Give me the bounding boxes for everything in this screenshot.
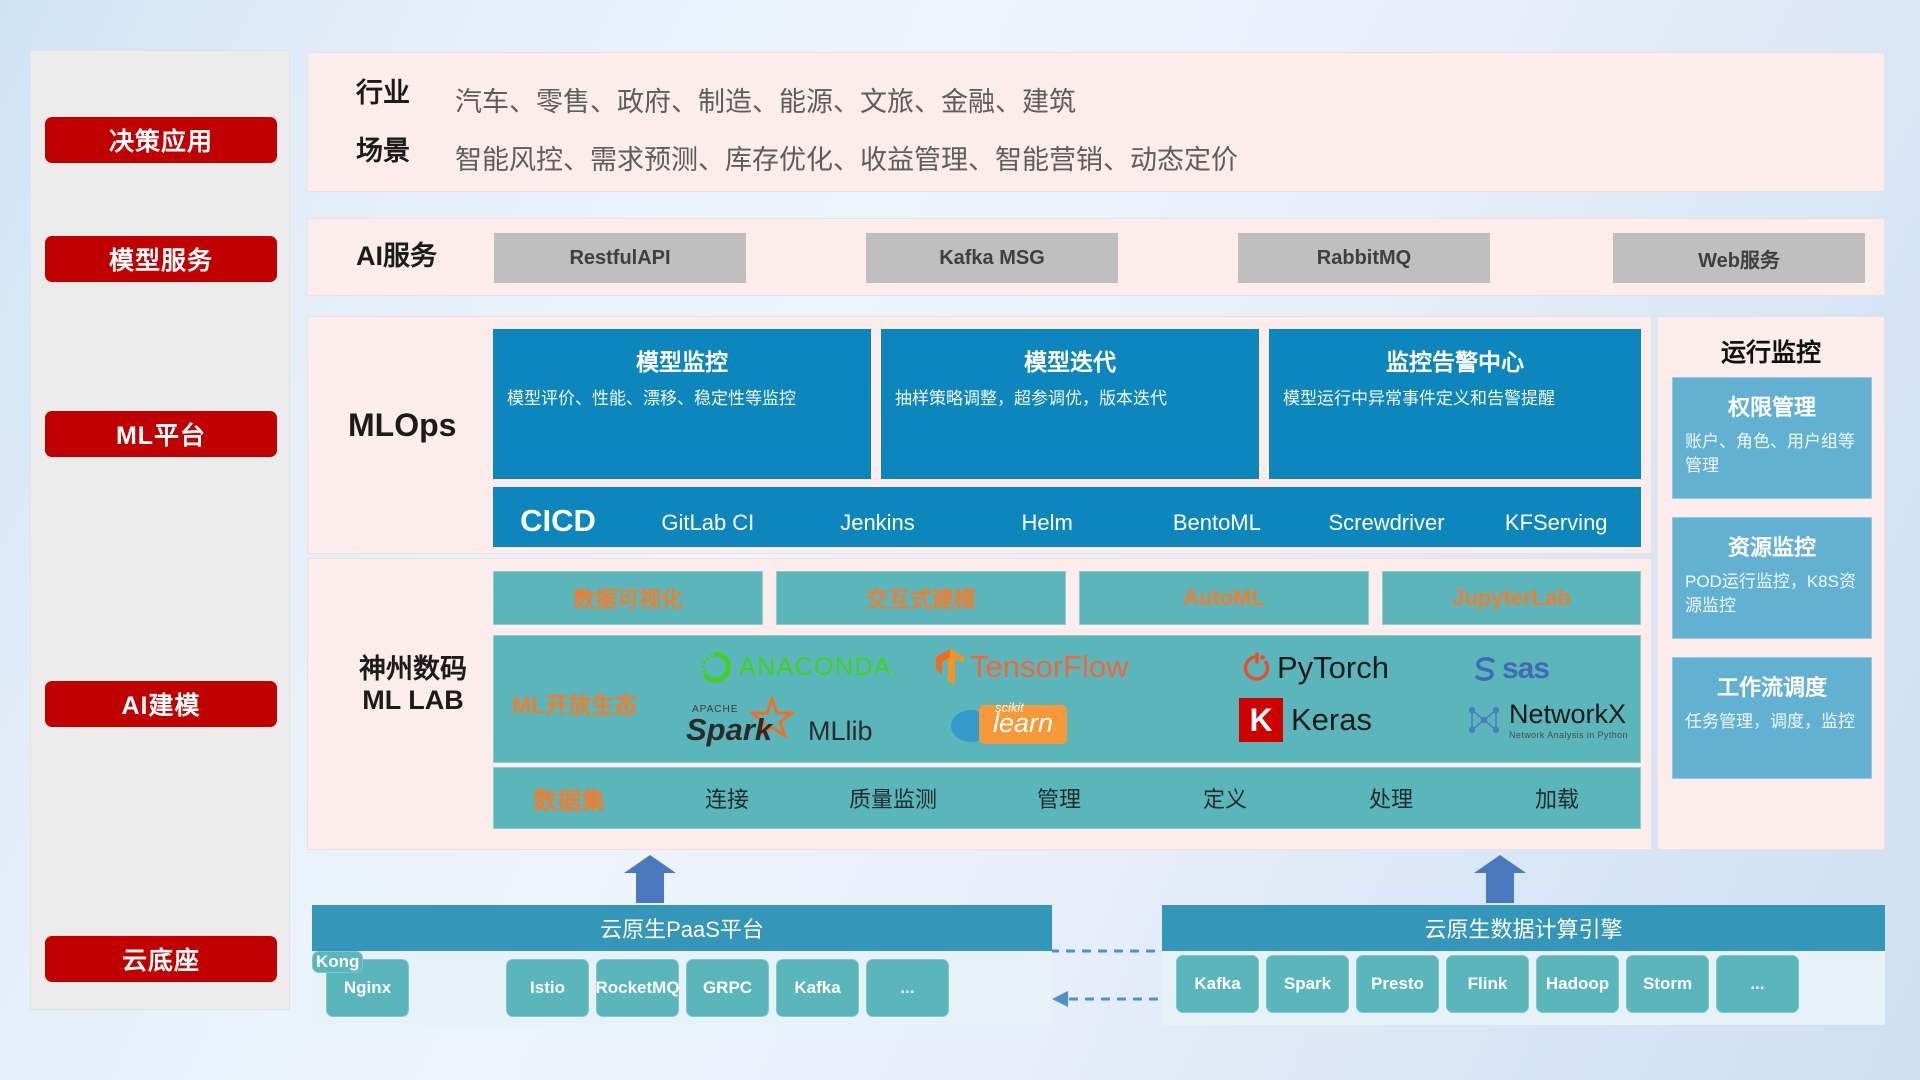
industry-value: 汽车、零售、政府、制造、能源、文旅、金融、建筑 — [455, 80, 1076, 119]
tensorflow-label: TensorFlow — [970, 649, 1129, 685]
paas-chip-rocketmq[interactable]: RocketMQ — [596, 959, 679, 1017]
paas-chip-kong[interactable]: Kong — [312, 951, 363, 973]
engine-chip-storm[interactable]: Storm — [1626, 955, 1709, 1013]
left-rail: 决策应用 模型服务 ML平台 AI建模 云底座 — [30, 50, 290, 1010]
tab-automl[interactable]: AutoML — [1079, 571, 1369, 625]
mllib-label: MLlib — [808, 716, 873, 747]
mlops-card-model-monitoring[interactable]: 模型监控 模型评价、性能、漂移、稳定性等监控 — [493, 329, 871, 479]
engine-chip-more[interactable]: ... — [1716, 955, 1799, 1013]
runtime-monitor-panel: 运行监控 权限管理 账户、角色、用户组等管理 资源监控 POD运行监控，K8S资… — [1657, 316, 1885, 850]
rail-item-cloud-base[interactable]: 云底座 — [45, 936, 277, 982]
ai-service-chip-kafka-msg[interactable]: Kafka MSG — [866, 233, 1118, 283]
cicd-item-kfserving[interactable]: KFServing — [1471, 487, 1641, 537]
anaconda-label: ANACONDA. — [739, 653, 900, 682]
rail-item-model-service[interactable]: 模型服务 — [45, 236, 277, 282]
card-title: 资源监控 — [1673, 530, 1871, 562]
engine-chip-kafka[interactable]: Kafka — [1176, 955, 1259, 1013]
tab-data-visualization[interactable]: 数据可视化 — [493, 571, 763, 625]
dataset-item-connect[interactable]: 连接 — [644, 782, 810, 814]
mlops-panel: MLOps 模型监控 模型评价、性能、漂移、稳定性等监控 模型迭代 抽样策略调整… — [307, 316, 1652, 554]
ml-open-ecosystem-band: ML开放生态 ANACONDA. TensorFlow — [493, 635, 1641, 763]
tensorflow-logo: TensorFlow — [934, 648, 1129, 686]
card-title: 模型迭代 — [881, 343, 1259, 377]
ai-service-chip-web-service[interactable]: Web服务 — [1613, 233, 1865, 283]
spark-mllib-logo: APACHE Spark MLlib — [682, 702, 873, 754]
card-desc: 账户、角色、用户组等管理 — [1685, 430, 1859, 478]
pytorch-icon — [1242, 651, 1272, 685]
rail-item-ai-modeling[interactable]: AI建模 — [45, 681, 277, 727]
dataset-item-load[interactable]: 加载 — [1474, 782, 1640, 814]
tab-jupyterlab[interactable]: JupyterLab — [1382, 571, 1641, 625]
ml-open-ecosystem-label: ML开放生态 — [512, 686, 637, 720]
dataset-item-define[interactable]: 定义 — [1142, 782, 1308, 814]
pytorch-logo: PyTorch — [1242, 650, 1389, 686]
engine-chip-spark[interactable]: Spark — [1266, 955, 1349, 1013]
rail-item-ml-platform[interactable]: ML平台 — [45, 411, 277, 457]
dataset-item-manage[interactable]: 管理 — [976, 782, 1142, 814]
engine-header: 云原生数据计算引擎 — [1162, 905, 1885, 951]
monitor-card-workflow[interactable]: 工作流调度 任务管理，调度，监控 — [1672, 657, 1872, 779]
sas-label: sas — [1502, 652, 1549, 686]
card-desc: POD运行监控，K8S资源监控 — [1685, 570, 1859, 618]
engine-chip-hadoop[interactable]: Hadoop — [1536, 955, 1619, 1013]
paas-header: 云原生PaaS平台 — [312, 905, 1052, 951]
paas-chip-more[interactable]: ... — [866, 959, 949, 1017]
mlops-label: MLOps — [348, 407, 456, 444]
cicd-item-screwdriver[interactable]: Screwdriver — [1302, 487, 1472, 537]
tab-interactive-modeling[interactable]: 交互式建模 — [776, 571, 1066, 625]
networkx-label: NetworkX — [1509, 701, 1628, 728]
ai-service-chip-rabbitmq[interactable]: RabbitMQ — [1238, 233, 1490, 283]
ml-lab-panel: 神州数码 ML LAB 数据可视化 交互式建模 AutoML JupyterLa… — [307, 558, 1652, 850]
runtime-monitor-title: 运行监控 — [1658, 333, 1884, 369]
paas-chip-istio[interactable]: Istio — [506, 959, 589, 1017]
card-title: 权限管理 — [1673, 390, 1871, 422]
paas-chip-grpc[interactable]: GRPC — [686, 959, 769, 1017]
mlops-card-model-iteration[interactable]: 模型迭代 抽样策略调整，超参调优，版本迭代 — [881, 329, 1259, 479]
monitor-card-resource[interactable]: 资源监控 POD运行监控，K8S资源监控 — [1672, 517, 1872, 639]
industry-scenario-panel: 行业 汽车、零售、政府、制造、能源、文旅、金融、建筑 场景 智能风控、需求预测、… — [307, 52, 1885, 192]
rail-item-decision-app[interactable]: 决策应用 — [45, 117, 277, 163]
networkx-logo: NetworkX Network Analysis in Python — [1464, 700, 1628, 740]
arrow-up-paas-icon — [620, 855, 680, 903]
card-title: 监控告警中心 — [1269, 343, 1641, 377]
cicd-label: CICD — [493, 487, 623, 539]
paas-chip-strip: Nginx Kong Istio RocketMQ GRPC Kafka ... — [312, 951, 1052, 1025]
anaconda-logo: ANACONDA. — [699, 650, 900, 684]
card-desc: 抽样策略调整，超参调优，版本迭代 — [895, 387, 1245, 412]
anaconda-icon — [699, 650, 733, 684]
ml-lab-label-line1: 神州数码 — [338, 654, 488, 685]
networkx-graph-icon — [1464, 700, 1504, 740]
scikit-learn-badge: scikit learn — [979, 705, 1067, 744]
sas-icon — [1469, 653, 1501, 685]
scikit-learn-logo: scikit learn — [949, 702, 1067, 746]
card-title: 模型监控 — [493, 343, 871, 377]
dataset-item-process[interactable]: 处理 — [1308, 782, 1474, 814]
ai-service-chip-restfulapi[interactable]: RestfulAPI — [494, 233, 746, 283]
card-title: 工作流调度 — [1673, 670, 1871, 702]
cicd-bar: CICD GitLab CI Jenkins Helm BentoML Scre… — [493, 487, 1641, 547]
sas-logo: sas — [1469, 652, 1549, 686]
ml-lab-label: 神州数码 ML LAB — [338, 654, 488, 716]
engine-chip-presto[interactable]: Presto — [1356, 955, 1439, 1013]
dataset-band: 数据集 连接 质量监测 管理 定义 处理 加载 — [493, 767, 1641, 829]
cicd-item-jenkins[interactable]: Jenkins — [793, 487, 963, 537]
keras-label: Keras — [1291, 702, 1372, 738]
spark-label: Spark — [686, 712, 772, 748]
dataset-item-quality[interactable]: 质量监测 — [810, 782, 976, 814]
scenario-label: 场景 — [356, 136, 410, 167]
cicd-item-bentoml[interactable]: BentoML — [1132, 487, 1302, 537]
ai-service-panel: AI服务 RestfulAPI Kafka MSG RabbitMQ Web服务 — [307, 218, 1885, 296]
card-desc: 模型评价、性能、漂移、稳定性等监控 — [507, 387, 857, 412]
keras-logo: K Keras — [1239, 698, 1372, 742]
pytorch-label: PyTorch — [1277, 650, 1389, 686]
scenario-value: 智能风控、需求预测、库存优化、收益管理、智能营销、动态定价 — [455, 138, 1238, 177]
card-desc: 任务管理，调度，监控 — [1685, 710, 1859, 734]
dataset-label: 数据集 — [494, 781, 644, 816]
scikit-top-label: scikit — [995, 700, 1024, 715]
engine-chip-strip: Kafka Spark Presto Flink Hadoop Storm ..… — [1162, 951, 1885, 1025]
ai-service-label: AI服务 — [356, 241, 437, 272]
monitor-card-permission[interactable]: 权限管理 账户、角色、用户组等管理 — [1672, 377, 1872, 499]
cicd-item-gitlab-ci[interactable]: GitLab CI — [623, 487, 793, 537]
industry-label: 行业 — [356, 78, 410, 109]
arrow-up-engine-icon — [1470, 855, 1530, 903]
ml-lab-label-line2: ML LAB — [338, 685, 488, 716]
card-desc: 模型运行中异常事件定义和告警提醒 — [1283, 387, 1627, 412]
mlops-card-alert-center[interactable]: 监控告警中心 模型运行中异常事件定义和告警提醒 — [1269, 329, 1641, 479]
cicd-item-helm[interactable]: Helm — [962, 487, 1132, 537]
networkx-sublabel: Network Analysis in Python — [1509, 730, 1628, 740]
keras-k-icon: K — [1239, 698, 1283, 742]
engine-chip-flink[interactable]: Flink — [1446, 955, 1529, 1013]
paas-chip-kafka[interactable]: Kafka — [776, 959, 859, 1017]
tensorflow-icon — [934, 648, 966, 686]
